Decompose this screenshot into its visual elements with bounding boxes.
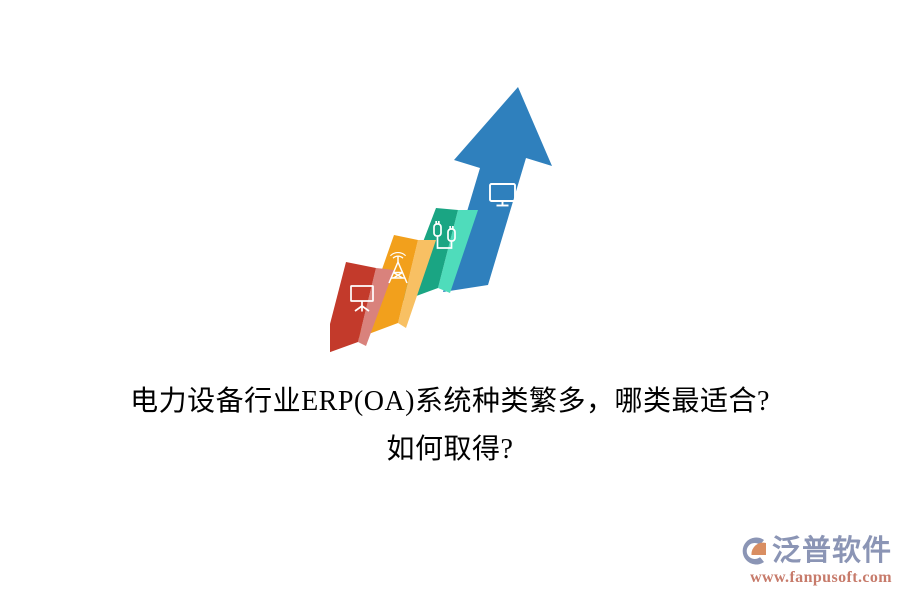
logo-divider [751,556,767,558]
headline-line-1: 电力设备行业ERP(OA)系统种类繁多，哪类最适合? [0,378,900,426]
brand-name: 泛普软件 [772,534,892,568]
banner-canvas: 电力设备行业ERP(OA)系统种类繁多，哪类最适合? 如何取得? 泛普软件 ww… [0,0,900,600]
brand-logo-row: 泛普软件 [736,533,892,569]
headline-line-2: 如何取得? [0,426,900,474]
page-title: 电力设备行业ERP(OA)系统种类繁多，哪类最适合? 如何取得? [0,378,900,474]
rising-ribbon-arrow-graphic [330,80,580,355]
fanpu-logo-mark-icon [736,534,770,568]
brand-logo: 泛普软件 www.fanpusoft.com [742,526,892,588]
brand-url: www.fanpusoft.com [750,568,892,588]
logo-accent [751,543,766,555]
